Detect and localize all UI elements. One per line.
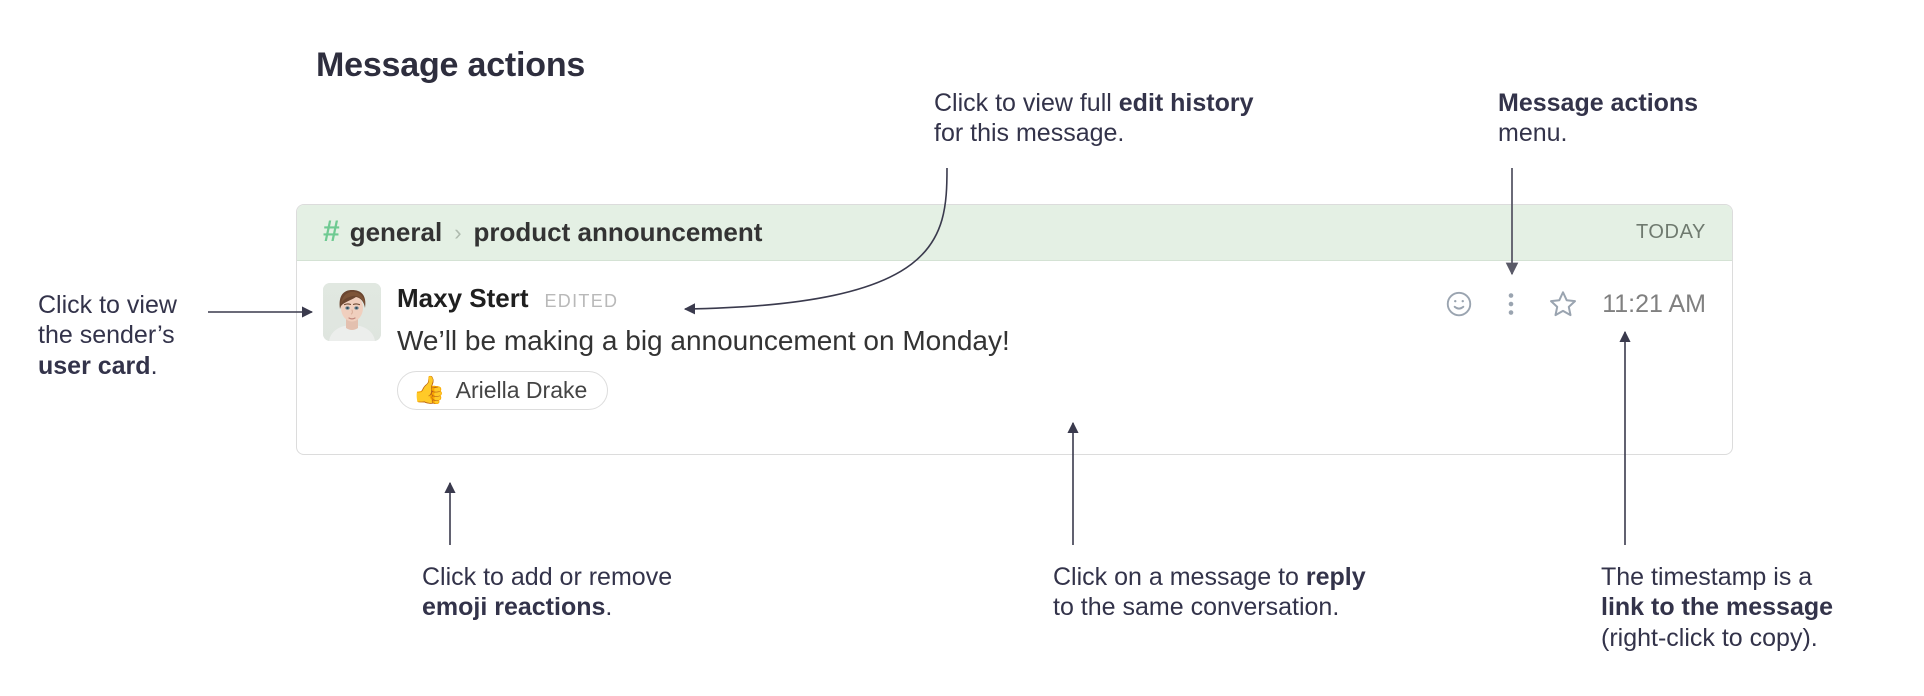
annotation-timestamp: The timestamp is a link to the message (… (1601, 562, 1833, 653)
annotation-emphasis: user card (38, 352, 151, 380)
annotation-actions-menu-line2: menu. (1498, 118, 1698, 148)
recipient-bar[interactable]: # general › product announcement TODAY (297, 205, 1732, 261)
breadcrumb-separator-icon: › (454, 220, 461, 246)
annotation-edit-history: Click to view full edit history for this… (934, 88, 1254, 149)
annotation-emphasis: edit history (1119, 89, 1254, 117)
annotation-user-card-line3: user card. (38, 351, 177, 381)
reactions-row: 👍 Ariella Drake (397, 371, 1706, 410)
annotation-edit-history-line2: for this message. (934, 118, 1254, 148)
annotation-edit-history-line1: Click to view full edit history (934, 88, 1254, 118)
annotation-user-card: Click to view the sender’s user card. (38, 290, 177, 381)
annotation-reply-line1: Click on a message to reply (1053, 562, 1366, 592)
stream-name[interactable]: general (350, 217, 443, 248)
avatar-image (323, 283, 381, 341)
hash-icon: # (323, 217, 340, 247)
annotation-user-card-line1: Click to view (38, 290, 177, 320)
message-body-text[interactable]: We’ll be making a big announcement on Mo… (397, 325, 1706, 357)
topic-name[interactable]: product announcement (474, 217, 763, 248)
avatar[interactable] (323, 283, 381, 341)
annotation-user-card-line2: the sender’s (38, 320, 177, 350)
annotation-timestamp-line1: The timestamp is a (1601, 562, 1833, 592)
annotation-emphasis: reply (1306, 563, 1366, 591)
annotation-actions-menu-line1: Message actions (1498, 88, 1698, 118)
annotation-emphasis: Message actions (1498, 89, 1698, 117)
annotation-emphasis: emoji reactions (422, 593, 605, 621)
recipient-date[interactable]: TODAY (1636, 221, 1706, 244)
star-icon[interactable] (1546, 287, 1580, 321)
annotation-text: Click to view full (934, 89, 1119, 117)
annotation-text: Click on a message to (1053, 563, 1306, 591)
annotation-timestamp-line2: link to the message (1601, 592, 1833, 622)
emoji-reaction-icon[interactable] (1442, 287, 1476, 321)
annotation-text: . (151, 352, 158, 380)
reaction-pill[interactable]: 👍 Ariella Drake (397, 371, 608, 410)
annotation-emphasis: link to the message (1601, 593, 1833, 621)
annotation-text: . (605, 593, 612, 621)
annotation-emoji-reactions: Click to add or remove emoji reactions. (422, 562, 672, 623)
reaction-label: Ariella Drake (456, 377, 588, 404)
page-title: Message actions (316, 46, 585, 85)
message-timestamp[interactable]: 11:21 AM (1602, 290, 1706, 319)
thumbs-up-icon: 👍 (412, 377, 446, 404)
message-card[interactable]: # general › product announcement TODAY (296, 204, 1733, 455)
sender-name[interactable]: Maxy Stert (397, 283, 529, 314)
annotation-actions-menu: Message actions menu. (1498, 88, 1698, 149)
annotation-reply-line2: to the same conversation. (1053, 592, 1366, 622)
message-row[interactable]: Maxy Stert EDITED We’ll be making a big … (297, 261, 1732, 410)
annotation-emoji-line1: Click to add or remove (422, 562, 672, 592)
annotation-reply: Click on a message to reply to the same … (1053, 562, 1366, 623)
message-actions-bar: 11:21 AM (1424, 287, 1706, 321)
annotation-timestamp-line3: (right-click to copy). (1601, 623, 1833, 653)
message-actions-menu-icon[interactable] (1494, 287, 1528, 321)
edited-label[interactable]: EDITED (545, 291, 619, 312)
annotation-emoji-line2: emoji reactions. (422, 592, 672, 622)
